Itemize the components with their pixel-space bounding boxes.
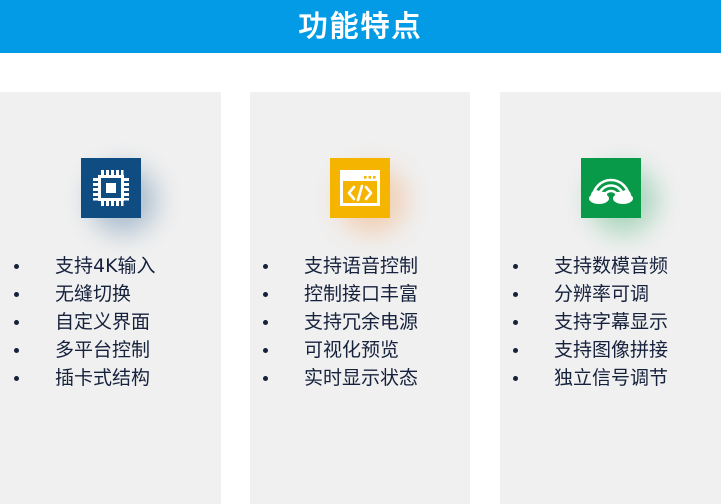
- feature-icon-container-1: [0, 158, 221, 218]
- bullet-icon: [513, 264, 518, 269]
- feature-card-2[interactable]: 支持语音控制 控制接口丰富 支持冗余电源 可视化预览 实时显示状态: [250, 92, 470, 504]
- list-item: 支持4K输入: [0, 252, 221, 280]
- feature-icon-container-2: [250, 158, 470, 218]
- bullet-icon: [14, 320, 19, 325]
- list-item: 支持语音控制: [250, 252, 470, 280]
- bullet-icon: [14, 376, 19, 381]
- list-item: 插卡式结构: [0, 364, 221, 392]
- feature-cards-container: 支持4K输入 无缝切换 自定义界面 多平台控制 插卡式结构: [0, 92, 721, 504]
- rainbow-clouds-icon: [581, 158, 641, 218]
- list-item: 多平台控制: [0, 336, 221, 364]
- bullet-icon: [14, 348, 19, 353]
- list-item: 可视化预览: [250, 336, 470, 364]
- code-window-icon: [330, 158, 390, 218]
- bullet-icon: [513, 348, 518, 353]
- list-item: 分辨率可调: [500, 280, 721, 308]
- feature-card-1[interactable]: 支持4K输入 无缝切换 自定义界面 多平台控制 插卡式结构: [0, 92, 221, 504]
- feature-list-3: 支持数模音频 分辨率可调 支持字幕显示 支持图像拼接 独立信号调节: [500, 252, 721, 392]
- list-item: 实时显示状态: [250, 364, 470, 392]
- page-header-banner: 功能特点: [0, 0, 721, 53]
- page-title: 功能特点: [298, 12, 422, 41]
- bullet-icon: [263, 320, 268, 325]
- feature-list-1: 支持4K输入 无缝切换 自定义界面 多平台控制 插卡式结构: [0, 252, 221, 392]
- bullet-icon: [263, 376, 268, 381]
- feature-list-2: 支持语音控制 控制接口丰富 支持冗余电源 可视化预览 实时显示状态: [250, 252, 470, 392]
- list-item: 支持字幕显示: [500, 308, 721, 336]
- list-item: 支持冗余电源: [250, 308, 470, 336]
- cpu-chip-icon: [81, 158, 141, 218]
- bullet-icon: [263, 348, 268, 353]
- bullet-icon: [513, 292, 518, 297]
- list-item: 控制接口丰富: [250, 280, 470, 308]
- bullet-icon: [513, 376, 518, 381]
- list-item: 自定义界面: [0, 308, 221, 336]
- list-item: 无缝切换: [0, 280, 221, 308]
- feature-icon-container-3: [500, 158, 721, 218]
- bullet-icon: [14, 264, 19, 269]
- bullet-icon: [14, 292, 19, 297]
- list-item: 支持图像拼接: [500, 336, 721, 364]
- bullet-icon: [263, 292, 268, 297]
- bullet-icon: [513, 320, 518, 325]
- list-item: 支持数模音频: [500, 252, 721, 280]
- feature-card-3[interactable]: 支持数模音频 分辨率可调 支持字幕显示 支持图像拼接 独立信号调节: [500, 92, 721, 504]
- bullet-icon: [263, 264, 268, 269]
- list-item: 独立信号调节: [500, 364, 721, 392]
